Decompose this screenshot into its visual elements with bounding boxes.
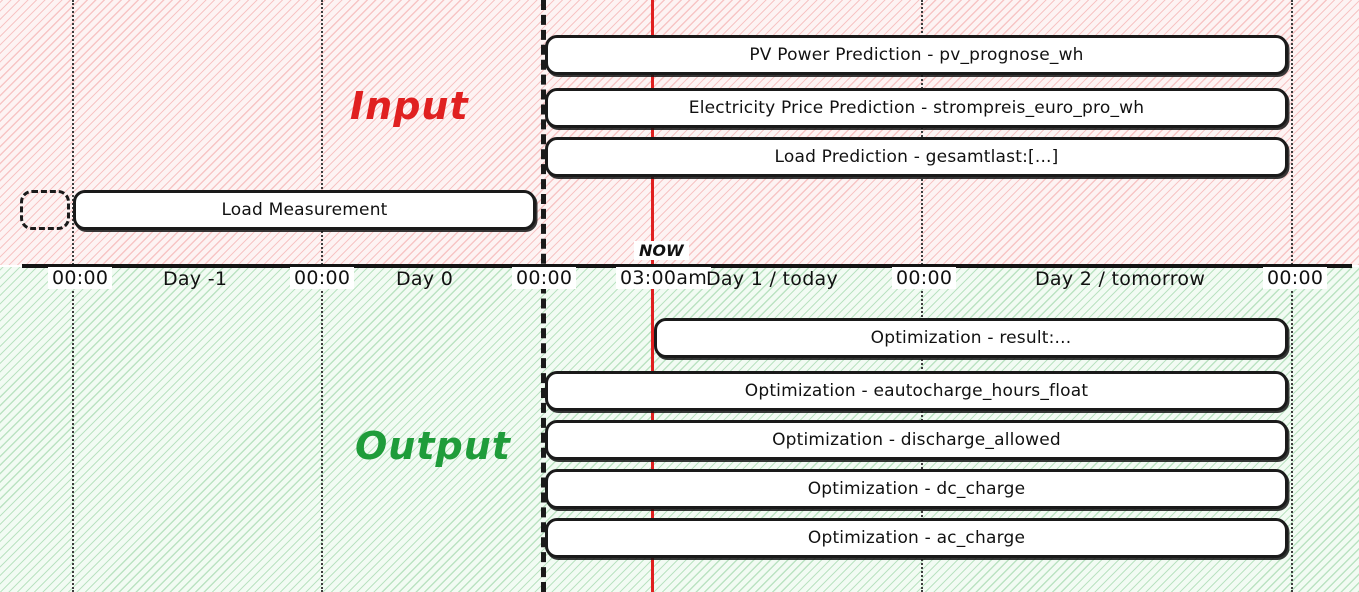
bar-label: PV Power Prediction - pv_prognose_wh	[749, 45, 1083, 65]
bar-label: Optimization - discharge_allowed	[772, 430, 1061, 450]
bar-label: Optimization - eautocharge_hours_float	[745, 381, 1088, 401]
output-bar-ac-charge[interactable]: Optimization - ac_charge	[545, 518, 1288, 558]
output-bar-discharge-allowed[interactable]: Optimization - discharge_allowed	[545, 420, 1288, 460]
axis-tick: 00:00	[1263, 267, 1327, 289]
axis-tick: 00:00	[892, 267, 956, 289]
today-boundary-line	[541, 0, 546, 592]
axis-tick: 00:00	[512, 267, 576, 289]
axis-tick: 00:00	[290, 267, 354, 289]
output-bar-dc-charge[interactable]: Optimization - dc_charge	[545, 469, 1288, 509]
axis-tick: 00:00	[48, 267, 112, 289]
output-bar-optimization-result[interactable]: Optimization - result:...	[654, 318, 1288, 358]
bar-label: Optimization - dc_charge	[808, 479, 1026, 499]
day-gridline-4	[1291, 0, 1293, 592]
input-bar-pv-power-prediction[interactable]: PV Power Prediction - pv_prognose_wh	[545, 35, 1288, 75]
now-label: NOW	[634, 241, 689, 260]
input-section-title: Input	[350, 84, 469, 128]
axis-day-label: Day 2 / tomorrow	[1035, 268, 1205, 290]
axis-tick: 03:00am	[616, 267, 711, 289]
axis-day-label: Day -1	[163, 268, 227, 290]
output-bar-eautocharge-hours-float[interactable]: Optimization - eautocharge_hours_float	[545, 371, 1288, 411]
axis-day-label: Day 1 / today	[706, 268, 838, 290]
bar-label: Optimization - ac_charge	[808, 528, 1025, 548]
bar-label: Load Measurement	[221, 200, 387, 220]
input-bar-load-measurement[interactable]: Load Measurement	[73, 190, 536, 230]
input-bar-load-prediction[interactable]: Load Prediction - gesamtlast:[...]	[545, 137, 1288, 177]
output-section-title: Output	[355, 424, 511, 468]
axis-day-label: Day 0	[396, 268, 453, 290]
bar-label: Load Prediction - gesamtlast:[...]	[775, 147, 1059, 167]
input-bar-electricity-price-prediction[interactable]: Electricity Price Prediction - stromprei…	[545, 88, 1288, 128]
day-gridline-1	[72, 0, 74, 592]
load-measurement-ghost-bar	[20, 190, 70, 230]
day-gridline-2	[321, 0, 323, 592]
bar-label: Optimization - result:...	[871, 328, 1072, 348]
bar-label: Electricity Price Prediction - stromprei…	[689, 98, 1145, 118]
timeline-diagram: NOW 00:00 00:00 00:00 03:00am 00:00 00:0…	[0, 0, 1359, 592]
